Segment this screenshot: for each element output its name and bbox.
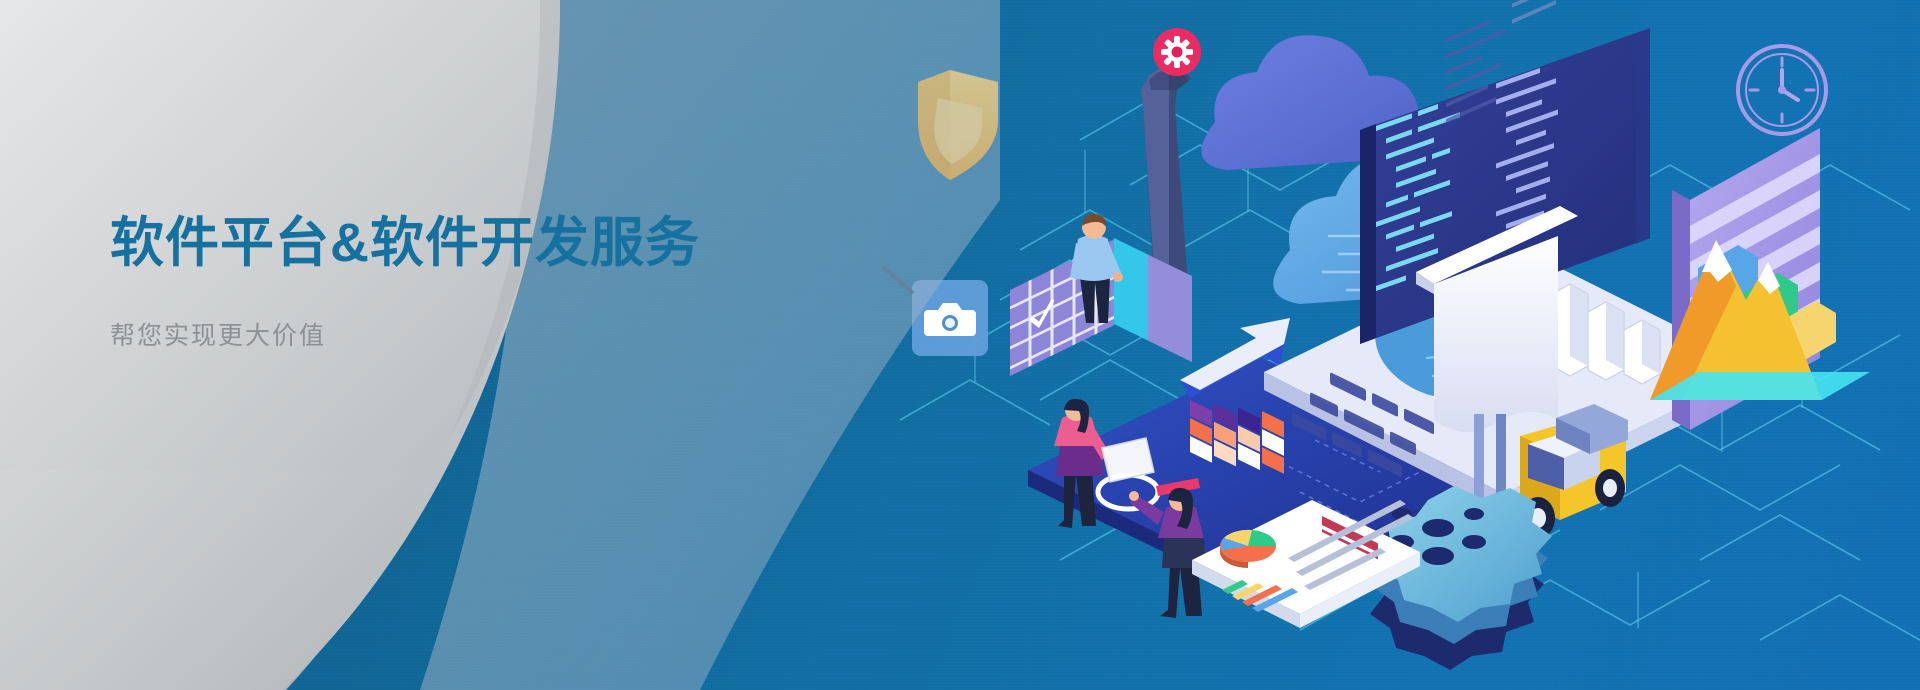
gears-icon: [1370, 486, 1552, 670]
page-title: 软件平台&软件开发服务: [110, 212, 830, 276]
banner-copy: 软件平台&软件开发服务 帮您实现更大价值: [110, 212, 830, 352]
hero-banner: 软件平台&软件开发服务 帮您实现更大价值: [0, 0, 1920, 690]
left-gray-panel: 软件平台&软件开发服务 帮您实现更大价值: [0, 0, 1000, 690]
person-analyst-purple: [1129, 488, 1206, 618]
page-subtitle: 帮您实现更大价值: [110, 320, 830, 353]
gear-badge-icon: [1153, 28, 1201, 76]
isometric-illustration: [860, 0, 1920, 690]
clock-icon: [1738, 46, 1826, 134]
